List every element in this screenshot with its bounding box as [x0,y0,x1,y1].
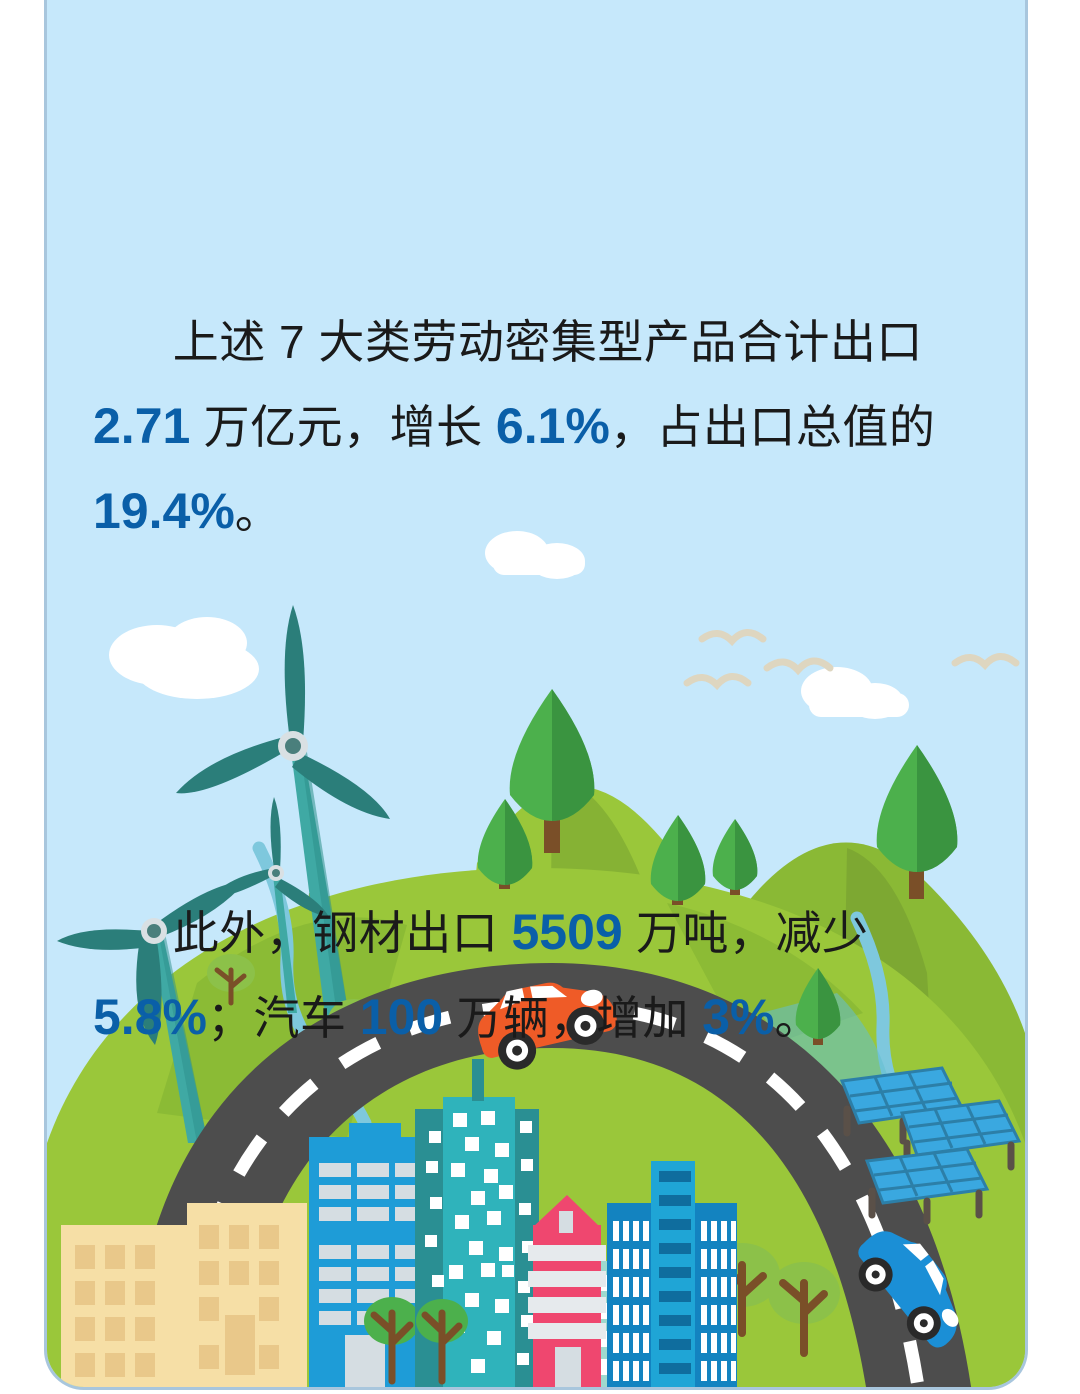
text-segment: 。 [775,992,822,1044]
stat-auto-change: 3% [702,989,774,1045]
headline-text-block: 上述 7 大类劳动密集型产品合计出口 2.71 万亿元，增长 6.1%，占出口总… [93,48,993,1312]
stat-growth-percent: 6.1% [496,398,610,454]
text-segment: 万亿元，增长 [190,401,496,453]
stat-steel-change: 5.8% [93,989,207,1045]
infographic-card: 上述 7 大类劳动密集型产品合计出口 2.71 万亿元，增长 6.1%，占出口总… [44,0,1028,1390]
text-segment: ，占出口总值的 [610,401,949,453]
text-segment: 此外，钢材出口 [173,907,512,959]
text-line-group-1: 上述 7 大类劳动密集型产品合计出口 2.71 万亿元，增长 6.1%，占出口总… [93,216,993,638]
text-segment: 万辆，增加 [443,992,702,1044]
text-segment: 。 [235,486,282,538]
stat-steel-volume: 5509 [511,904,622,960]
stat-share-percent: 19.4% [93,483,235,539]
stat-auto-volume: 100 [360,989,443,1045]
text-line-group-2: 此外，钢材出口 5509 万吨，减少 5.8%；汽车 100 万辆，增加 3%。 [93,806,993,1144]
text-segment: 上述 7 大类劳动密集型产品合计出口 [173,316,936,368]
text-segment: ；汽车 [207,992,360,1044]
text-segment: 万吨，减少 [623,907,882,959]
stat-export-value: 2.71 [93,398,190,454]
